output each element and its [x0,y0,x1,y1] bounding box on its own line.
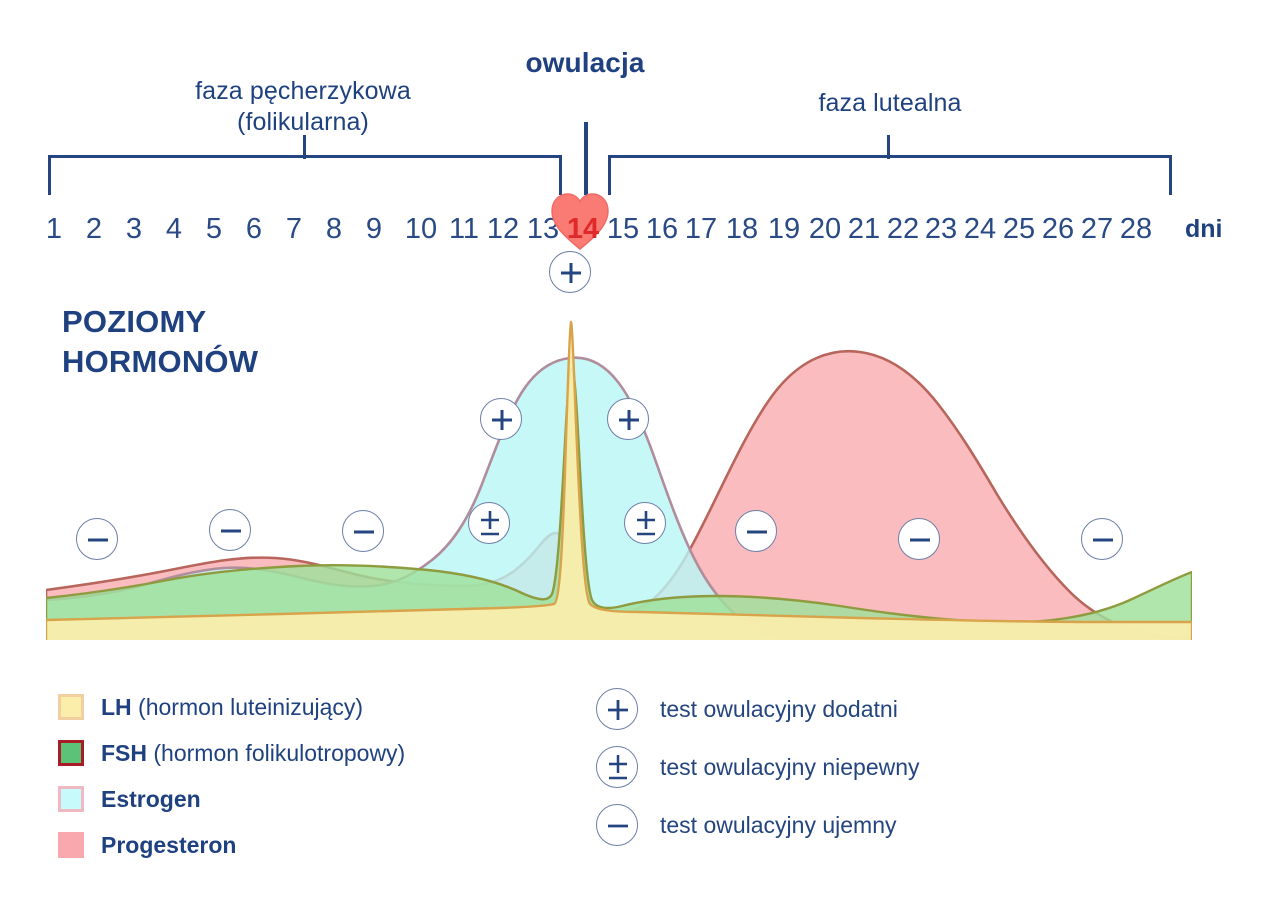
marker-negative-icon[interactable] [209,509,251,551]
legend-hormone-desc: (hormon luteinizujący) [132,694,363,720]
legend-item-progesteron: Progesteron [58,822,578,868]
plus-circle-icon [596,688,638,730]
legend-hormone-name: Estrogen [101,786,201,812]
legend-label-fsh: FSH (hormon folikulotropowy) [101,740,405,767]
legend-test-item-0: test owulacyjny dodatni [596,680,1116,738]
legend-hormone-name: Progesteron [101,832,236,858]
marker-uncertain-icon[interactable] [468,502,510,544]
legend-label-progesteron: Progesteron [101,832,236,859]
marker-negative-icon[interactable] [735,510,777,552]
legend-label-estrogen: Estrogen [101,786,201,813]
legend-hormone-desc: (hormon folikulotropowy) [147,740,405,766]
marker-positive-icon[interactable] [549,251,591,293]
estrogen-swatch [58,786,84,812]
marker-uncertain-icon[interactable] [624,502,666,544]
legend-hormones: LH (hormon luteinizujący)FSH (hormon fol… [58,684,578,868]
legend-item-estrogen: Estrogen [58,776,578,822]
legend-test-item-2: test owulacyjny ujemny [596,796,1116,854]
fsh-swatch [58,740,84,766]
legend-test-item-1: test owulacyjny niepewny [596,738,1116,796]
plus-minus-circle-icon [596,746,638,788]
marker-negative-icon[interactable] [76,518,118,560]
marker-negative-icon[interactable] [342,510,384,552]
lh-swatch [58,694,84,720]
legend-hormone-name: LH [101,694,132,720]
legend-item-lh: LH (hormon luteinizujący) [58,684,578,730]
marker-negative-icon[interactable] [1081,518,1123,560]
legend-hormone-name: FSH [101,740,147,766]
infographic-root: faza pęcherzykowa (folikularna) owulacja… [0,0,1280,909]
marker-positive-icon[interactable] [480,398,522,440]
day-label-14: 14 [563,206,603,252]
legend-tests: test owulacyjny dodatnitest owulacyjny n… [596,680,1116,854]
minus-circle-icon [596,804,638,846]
legend-test-label: test owulacyjny dodatni [660,696,898,723]
legend-test-label: test owulacyjny niepewny [660,754,920,781]
legend-label-lh: LH (hormon luteinizujący) [101,694,363,721]
marker-negative-icon[interactable] [898,518,940,560]
legend-test-label: test owulacyjny ujemny [660,812,897,839]
legend-item-fsh: FSH (hormon folikulotropowy) [58,730,578,776]
marker-positive-icon[interactable] [607,398,649,440]
progesterone-swatch [58,832,84,858]
